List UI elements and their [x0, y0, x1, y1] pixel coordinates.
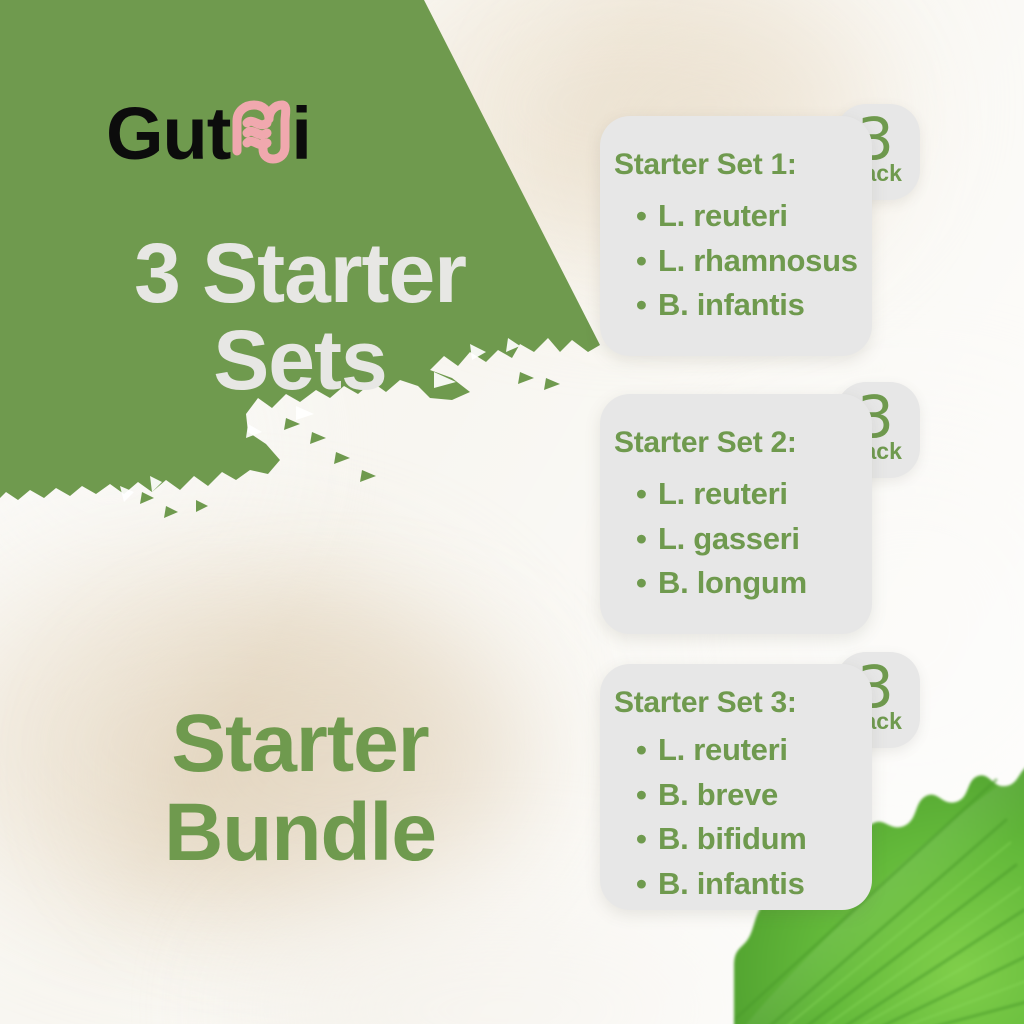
brand-logo: Gut i — [106, 96, 312, 172]
bullet-icon: • — [636, 728, 658, 773]
bullet-icon: • — [636, 561, 658, 606]
logo-text-gut: Gut — [106, 97, 230, 171]
list-item: •L. rhamnosus — [636, 239, 858, 284]
intestine-icon — [229, 99, 293, 169]
starter-set-card-1-title: Starter Set 1: — [614, 148, 797, 182]
product-poster: Gut i 3 Starter Sets Starter Bundle 3 Pa… — [0, 0, 1024, 1024]
logo-text-i: i — [291, 97, 312, 171]
bullet-icon: • — [636, 283, 658, 328]
list-item: •B. breve — [636, 773, 807, 818]
bullet-icon: • — [636, 862, 658, 907]
bullet-icon: • — [636, 239, 658, 284]
list-item: •L. reuteri — [636, 194, 858, 239]
page-title: 3 Starter Sets — [40, 230, 560, 403]
list-item: •B. bifidum — [636, 817, 807, 862]
starter-set-card-3-title: Starter Set 3: — [614, 686, 797, 720]
list-item: •B. longum — [636, 561, 807, 606]
starter-set-card-3[interactable]: Starter Set 3: •L. reuteri •B. breve •B.… — [600, 664, 872, 910]
bullet-icon: • — [636, 773, 658, 818]
bullet-icon: • — [636, 194, 658, 239]
starter-set-card-1-strains: •L. reuteri •L. rhamnosus •B. infantis — [636, 194, 858, 328]
bullet-icon: • — [636, 817, 658, 862]
bullet-icon: • — [636, 517, 658, 562]
starter-set-card-3-strains: •L. reuteri •B. breve •B. bifidum •B. in… — [636, 728, 807, 907]
list-item: •L. gasseri — [636, 517, 807, 562]
list-item: •L. reuteri — [636, 472, 807, 517]
starter-set-card-1[interactable]: Starter Set 1: •L. reuteri •L. rhamnosus… — [600, 116, 872, 356]
list-item: •B. infantis — [636, 862, 807, 907]
starter-set-card-2-strains: •L. reuteri •L. gasseri •B. longum — [636, 472, 807, 606]
list-item: •B. infantis — [636, 283, 858, 328]
starter-set-card-2-title: Starter Set 2: — [614, 426, 797, 460]
starter-set-card-2[interactable]: Starter Set 2: •L. reuteri •L. gasseri •… — [600, 394, 872, 634]
product-name: Starter Bundle — [40, 700, 560, 877]
product-name-line2: Bundle — [40, 789, 560, 878]
product-name-line1: Starter — [40, 700, 560, 789]
list-item: •L. reuteri — [636, 728, 807, 773]
bullet-icon: • — [636, 472, 658, 517]
